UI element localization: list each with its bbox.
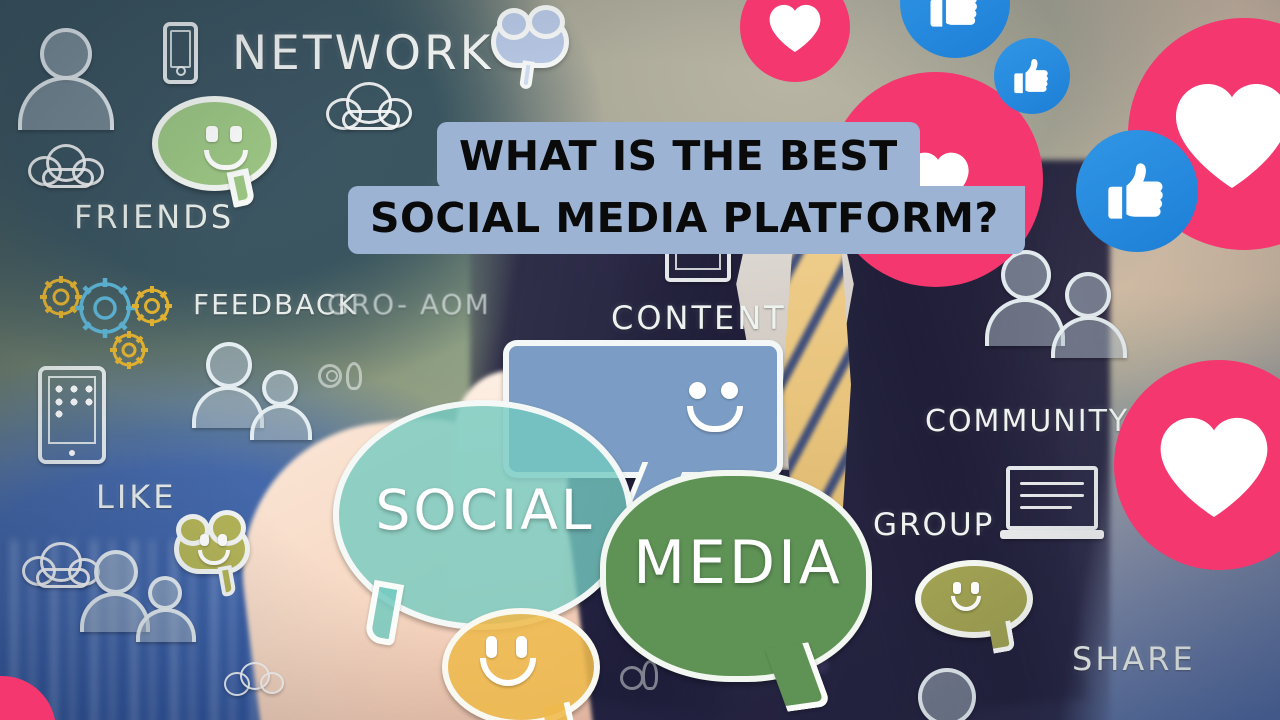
poster-canvas: SOCIAL MEDIA	[0, 0, 1280, 720]
headline-line-1: WHAT IS THE BEST	[437, 122, 920, 189]
media-bubble-label: MEDIA	[610, 528, 866, 598]
heart-icon	[1153, 410, 1275, 521]
thumbs-up-icon	[1103, 157, 1171, 225]
thumbs-up-icon	[1011, 55, 1053, 97]
social-bubble-label: SOCIAL	[350, 478, 620, 542]
like-badge-right[interactable]	[1076, 130, 1198, 252]
headline-line-2: SOCIAL MEDIA PLATFORM?	[348, 186, 1025, 254]
thumbs-up-icon	[926, 0, 984, 32]
media-bubble: MEDIA	[600, 470, 890, 720]
heart-icon	[766, 1, 824, 54]
headline-banner: WHAT IS THE BEST SOCIAL MEDIA PLATFORM?	[348, 122, 1025, 254]
smiley-speech-bubble-icon	[442, 608, 612, 720]
like-badge-upper-right[interactable]	[994, 38, 1070, 114]
